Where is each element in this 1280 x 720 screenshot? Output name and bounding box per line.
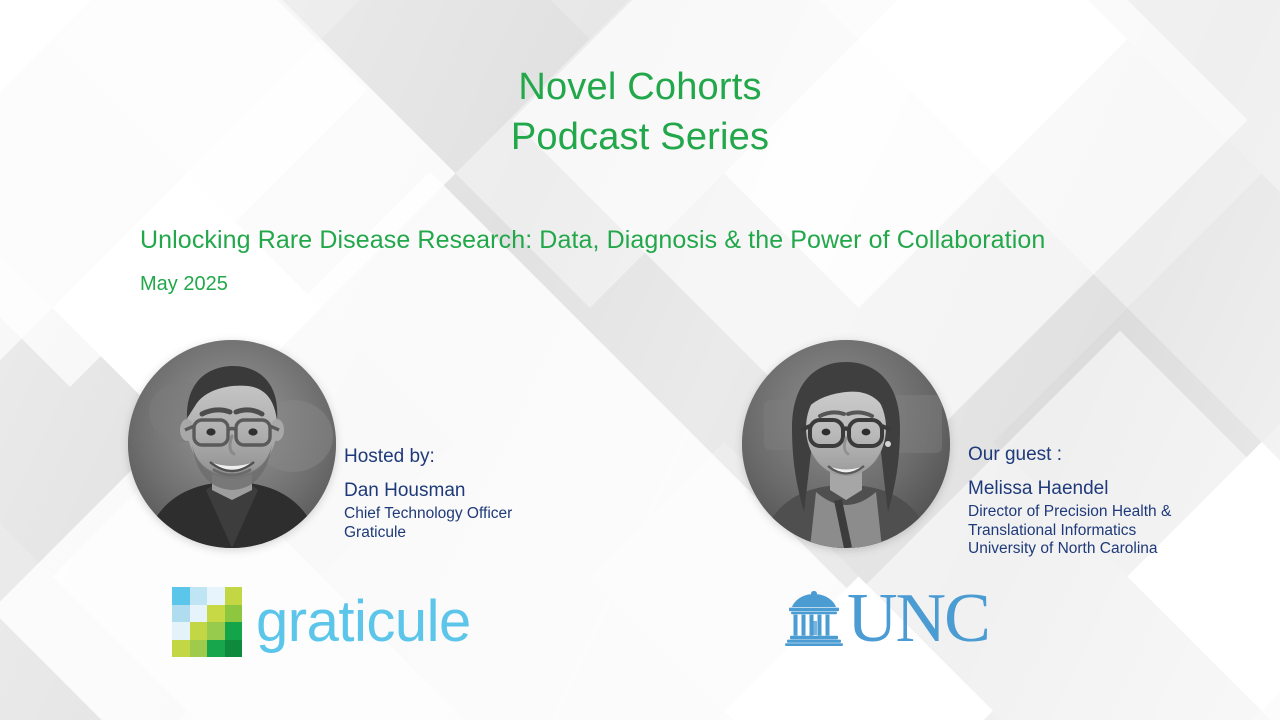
graticule-logo: graticule xyxy=(172,587,471,657)
episode-title: Unlocking Rare Disease Research: Data, D… xyxy=(140,224,1045,257)
slide-content: Novel Cohorts Podcast Series Unlocking R… xyxy=(0,0,1280,720)
graticule-tile xyxy=(172,622,190,640)
graticule-tile xyxy=(172,587,190,605)
graticule-tile xyxy=(207,640,225,658)
host-name: Dan Housman xyxy=(344,478,512,503)
guest-role-label: Our guest : xyxy=(968,442,1171,468)
graticule-tile xyxy=(190,622,208,640)
old-well-rotunda-icon xyxy=(783,588,845,650)
unc-wordmark: UNC xyxy=(847,588,989,650)
graticule-tile xyxy=(225,587,243,605)
graticule-tile xyxy=(207,605,225,623)
guest-title-line-2: Translational Informatics xyxy=(968,522,1171,541)
avatar-host xyxy=(128,340,336,548)
graticule-tile xyxy=(225,622,243,640)
episode-date: May 2025 xyxy=(140,271,228,298)
graticule-grid-icon xyxy=(172,587,242,657)
graticule-tile xyxy=(172,605,190,623)
guest-name: Melissa Haendel xyxy=(968,476,1171,501)
series-title: Novel Cohorts Podcast Series xyxy=(0,62,1280,162)
guest-title-line-1: Director of Precision Health & xyxy=(968,503,1171,522)
series-title-line-1: Novel Cohorts xyxy=(0,62,1280,112)
unc-logo: UNC xyxy=(783,588,989,650)
guest-organization: University of North Carolina xyxy=(968,540,1171,559)
host-role-label: Hosted by: xyxy=(344,444,512,470)
graticule-tile xyxy=(207,587,225,605)
series-title-line-2: Podcast Series xyxy=(0,112,1280,162)
host-organization: Graticule xyxy=(344,524,512,543)
graticule-tile xyxy=(225,640,243,658)
graticule-tile xyxy=(225,605,243,623)
graticule-tile xyxy=(190,587,208,605)
avatar-guest xyxy=(742,340,950,548)
graticule-tile xyxy=(190,640,208,658)
graticule-tile xyxy=(207,622,225,640)
host-title: Chief Technology Officer xyxy=(344,505,512,524)
host-info: Hosted by: Dan Housman Chief Technology … xyxy=(344,444,512,542)
slide-root: Novel Cohorts Podcast Series Unlocking R… xyxy=(0,0,1280,720)
graticule-tile xyxy=(172,640,190,658)
graticule-wordmark: graticule xyxy=(256,593,471,651)
graticule-tile xyxy=(190,605,208,623)
guest-info: Our guest : Melissa Haendel Director of … xyxy=(968,442,1171,559)
